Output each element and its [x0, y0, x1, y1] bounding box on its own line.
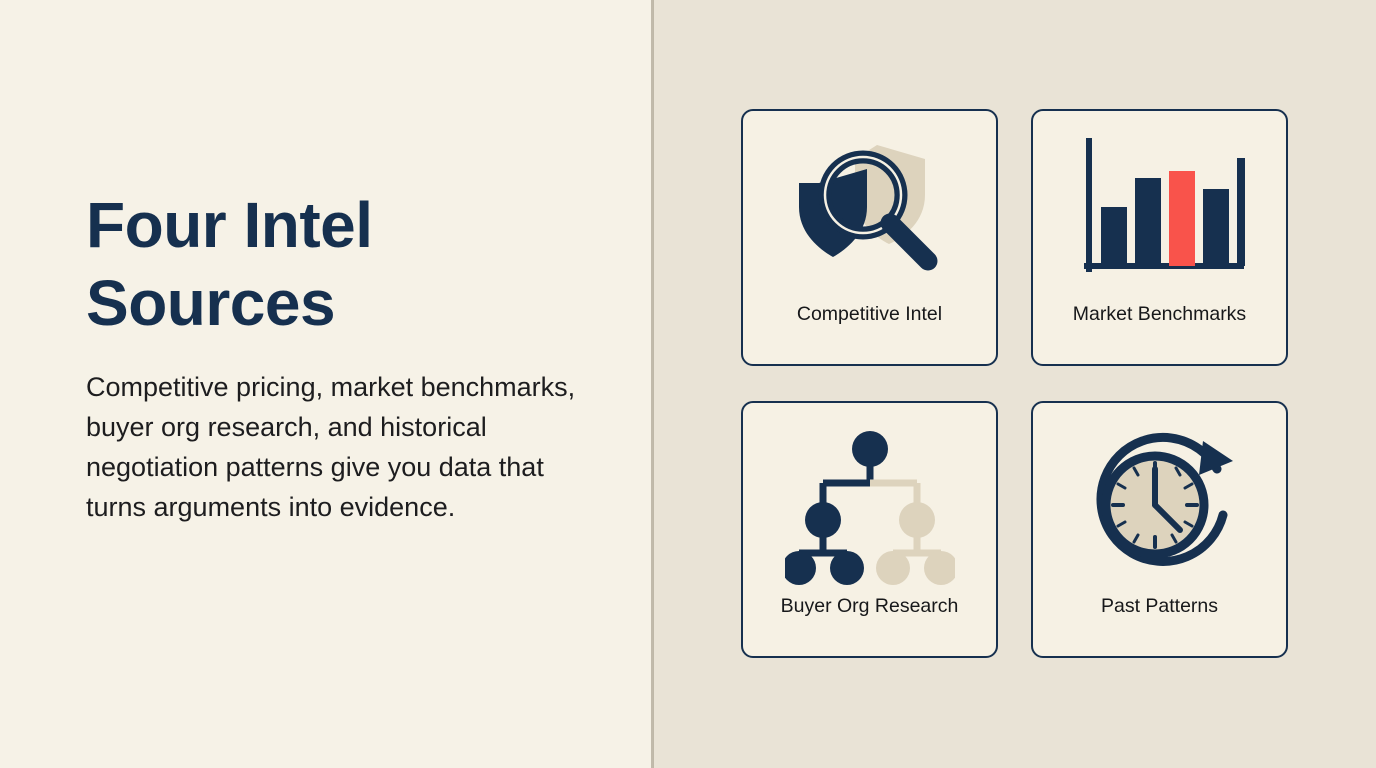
- card-buyer-org-research[interactable]: Buyer Org Research: [741, 401, 998, 658]
- card-label-buyer-org-research: Buyer Org Research: [743, 595, 996, 618]
- slide-root: Four Intel Sources Competitive pricing, …: [0, 0, 1376, 768]
- body-paragraph: Competitive pricing, market benchmarks, …: [86, 368, 606, 528]
- org-node-right: [899, 502, 935, 538]
- card-label-market-benchmarks: Market Benchmarks: [1033, 303, 1286, 326]
- clock-history-icon: [1075, 425, 1245, 585]
- org-node-left-child-2: [830, 551, 864, 585]
- bar-chart-icon: [1075, 133, 1245, 293]
- card-label-past-patterns: Past Patterns: [1033, 595, 1286, 618]
- shield-magnifier-icon: [785, 133, 955, 293]
- org-node-right-child-1: [876, 551, 910, 585]
- org-chart-icon: [785, 425, 955, 585]
- org-node-root: [852, 431, 888, 467]
- org-node-left: [805, 502, 841, 538]
- panel-divider: [651, 0, 654, 768]
- page-title: Four Intel Sources: [86, 186, 606, 342]
- intel-source-card-grid: Competitive Intel Market Benchmarks: [741, 109, 1288, 658]
- card-market-benchmarks[interactable]: Market Benchmarks: [1031, 109, 1288, 366]
- bar-2: [1135, 178, 1161, 266]
- card-past-patterns[interactable]: Past Patterns: [1031, 401, 1288, 658]
- left-content: Four Intel Sources Competitive pricing, …: [86, 186, 606, 528]
- card-competitive-intel[interactable]: Competitive Intel: [741, 109, 998, 366]
- bar-5: [1237, 158, 1245, 266]
- bar-3-highlight: [1169, 171, 1195, 266]
- bar-1: [1101, 207, 1127, 266]
- bar-4: [1203, 189, 1229, 266]
- card-label-competitive-intel: Competitive Intel: [743, 303, 996, 326]
